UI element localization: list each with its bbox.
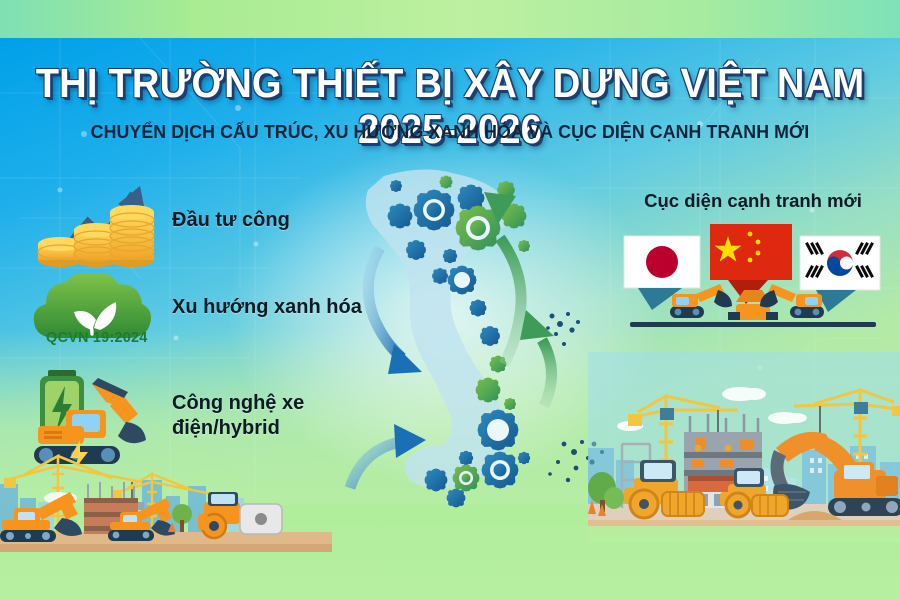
vietnam-gear-map [338, 158, 598, 513]
construction-scene-right-illustration [588, 352, 900, 542]
construction-scene-left [0, 440, 332, 565]
construction-scene-right [588, 352, 900, 547]
top-color-strip [0, 0, 900, 38]
flags-and-excavators [612, 222, 892, 332]
competition-heading: Cục diện cạnh tranh mới [618, 190, 888, 212]
qcvn-standard-caption: QCVN 19:2024 [46, 330, 148, 346]
competition-flags-group [612, 222, 892, 337]
feature-label-public-investment: Đầu tư công [172, 208, 290, 233]
construction-scene-left-illustration [0, 440, 332, 560]
feature-label-ev-hybrid-line2: điện/hybrid [172, 417, 280, 439]
page-subtitle: CHUYỂN DỊCH CẤU TRÚC, XU HƯỚNG XANH HÓA … [18, 120, 882, 144]
vietnam-map-gears-illustration [338, 158, 598, 508]
feature-label-green-trend: Xu hướng xanh hóa [172, 295, 362, 320]
feature-label-ev-hybrid-line1: Công nghệ xe [172, 392, 304, 414]
infographic-canvas: THỊ TRƯỜNG THIẾT BỊ XÂY DỰNG VIỆT NAM 20… [0, 0, 900, 600]
coins-growth-chart-icon [18, 168, 158, 273]
feature-label-ev-hybrid: Công nghệ xe điện/hybrid [172, 391, 304, 441]
feature-public-investment: Đầu tư công [18, 168, 290, 273]
